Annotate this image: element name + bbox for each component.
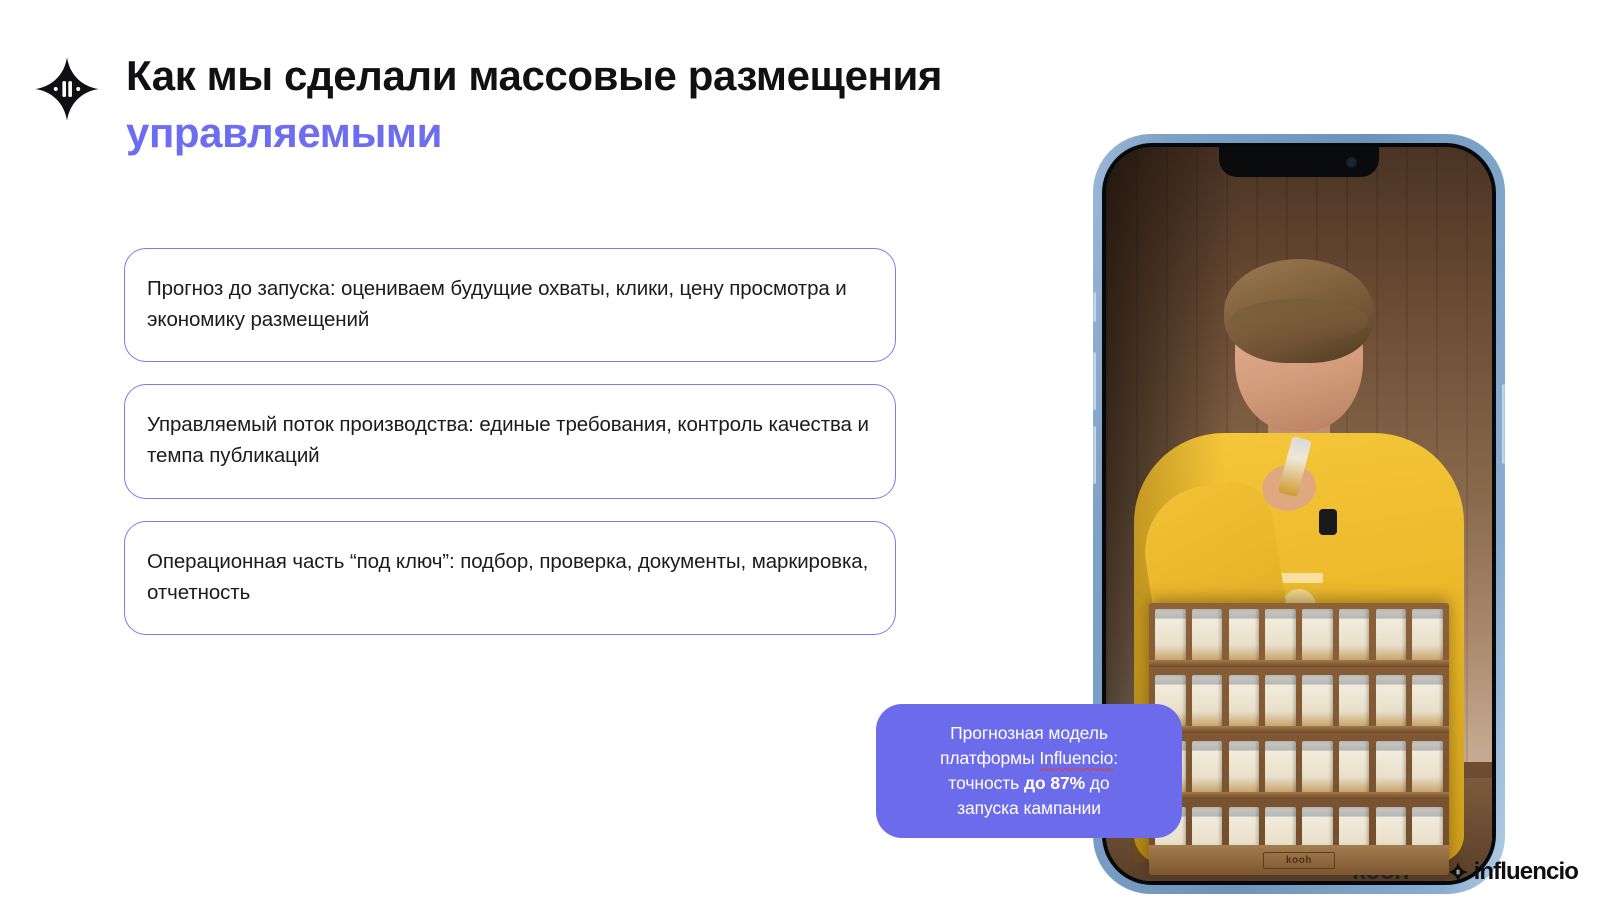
front-camera-icon <box>1346 157 1357 168</box>
bullet-card-text: Прогноз до запуска: оцениваем будущие ох… <box>147 273 869 335</box>
influencio-logo: influencio <box>1447 858 1578 886</box>
slide-header: Как мы сделали массовые размещения управ… <box>34 52 942 156</box>
spice-jar <box>1412 609 1443 667</box>
spice-jar <box>1376 675 1407 733</box>
callout-brand-name: Influencio <box>1039 748 1113 768</box>
title-line-accent: управляемыми <box>126 109 942 156</box>
spice-jar <box>1265 675 1296 733</box>
callout-text: Прогнозная модель платформы Influencio: … <box>940 721 1118 820</box>
spice-jar <box>1265 609 1296 667</box>
mute-switch-button[interactable] <box>1093 292 1096 322</box>
callout-accuracy-value: до 87% <box>1024 773 1085 793</box>
presenter-hair <box>1224 259 1374 363</box>
bullet-card-text: Управляемый поток производства: единые т… <box>147 409 869 471</box>
spice-jar <box>1229 741 1260 799</box>
power-button[interactable] <box>1502 384 1505 464</box>
rack-jar-row <box>1155 675 1443 733</box>
callout-line-3-suffix: до <box>1085 773 1110 793</box>
volume-down-button[interactable] <box>1093 426 1096 484</box>
slide: Как мы сделали массовые размещения управ… <box>0 0 1604 904</box>
rack-jar-row <box>1155 609 1443 667</box>
bullet-card: Операционная часть “под ключ”: подбор, п… <box>124 521 896 635</box>
spice-jar <box>1155 609 1186 667</box>
phone-notch <box>1219 147 1379 177</box>
rack-board <box>1149 660 1449 667</box>
spice-jar <box>1339 741 1370 799</box>
spice-jar <box>1412 741 1443 799</box>
rack-jar-row <box>1155 741 1443 799</box>
spice-jar <box>1192 609 1223 667</box>
spice-jar <box>1302 609 1333 667</box>
spice-jar <box>1229 609 1260 667</box>
bullet-card-text: Операционная часть “под ключ”: подбор, п… <box>147 546 869 608</box>
rack-base: kooh <box>1149 845 1449 875</box>
prediction-callout: Прогнозная модель платформы Influencio: … <box>876 704 1182 838</box>
callout-line-2-prefix: платформы <box>940 748 1039 768</box>
title-line-primary: Как мы сделали массовые размещения <box>126 52 942 99</box>
rack-board <box>1149 726 1449 733</box>
callout-line-2-suffix: : <box>1113 748 1118 768</box>
rack-shelf <box>1149 669 1449 733</box>
rack-brand-label: kooh <box>1263 852 1335 869</box>
influencio-logo-label: influencio <box>1474 858 1578 886</box>
bullet-card: Управляемый поток производства: единые т… <box>124 384 896 498</box>
four-point-star-icon <box>1447 861 1469 883</box>
callout-line-1: Прогнозная модель <box>950 723 1108 743</box>
spice-rack: kooh <box>1149 603 1449 875</box>
spice-jar <box>1265 741 1296 799</box>
spice-jar <box>1302 741 1333 799</box>
spice-jar <box>1192 741 1223 799</box>
spice-jar <box>1376 741 1407 799</box>
rack-board <box>1149 792 1449 799</box>
four-point-star-icon <box>34 56 100 122</box>
spice-jar <box>1339 609 1370 667</box>
bullet-card-list: Прогноз до запуска: оцениваем будущие ох… <box>124 248 896 635</box>
callout-line-4: запуска кампании <box>957 798 1101 818</box>
spice-jar <box>1376 609 1407 667</box>
rack-shelf <box>1149 735 1449 799</box>
spice-jar <box>1302 675 1333 733</box>
spice-jar <box>1412 675 1443 733</box>
spice-jar <box>1339 675 1370 733</box>
spice-jar <box>1192 675 1223 733</box>
callout-line-3-prefix: точность <box>948 773 1024 793</box>
rack-shelf <box>1149 603 1449 667</box>
bullet-card: Прогноз до запуска: оцениваем будущие ох… <box>124 248 896 362</box>
page-title: Как мы сделали массовые размещения управ… <box>126 52 942 156</box>
lavalier-mic-icon <box>1319 509 1337 535</box>
volume-up-button[interactable] <box>1093 352 1096 410</box>
spice-jar <box>1229 675 1260 733</box>
